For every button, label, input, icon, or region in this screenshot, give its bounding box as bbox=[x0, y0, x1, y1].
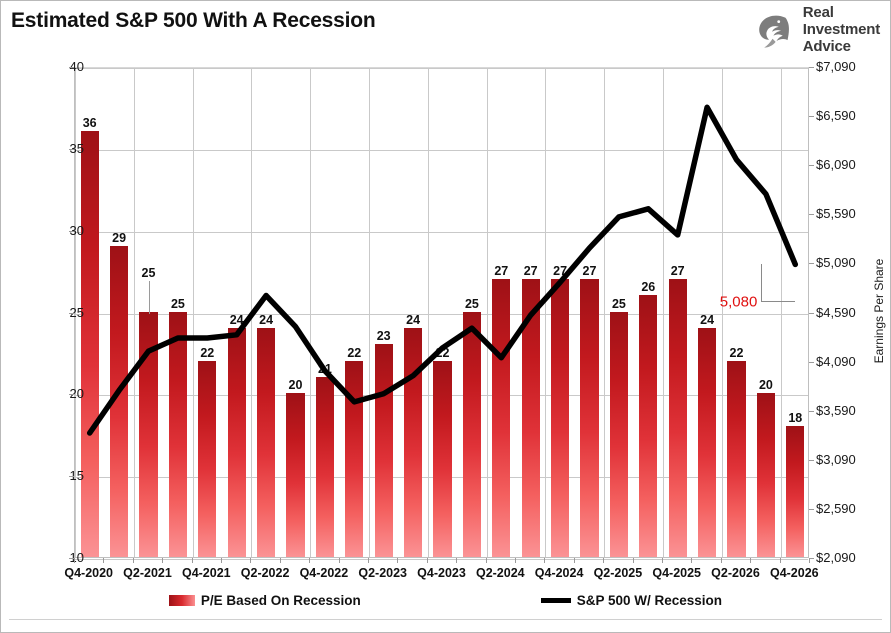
x-tick-label: Q2-2023 bbox=[358, 566, 407, 580]
x-tick-mark bbox=[544, 558, 545, 563]
y-tick-mark-right bbox=[809, 509, 814, 510]
y-tick-label-right: $5,090 bbox=[816, 255, 886, 270]
annotation-5080: 5,080 bbox=[720, 294, 758, 311]
x-tick-mark bbox=[662, 558, 663, 563]
x-tick-mark bbox=[603, 558, 604, 563]
y-tick-mark-right bbox=[809, 362, 814, 363]
y-tick-mark-left bbox=[69, 313, 74, 314]
eagle-head-icon bbox=[750, 8, 796, 52]
x-tick-label: Q2-2026 bbox=[711, 566, 760, 580]
y-tick-label-right: $4,590 bbox=[816, 305, 886, 320]
x-tick-mark bbox=[280, 558, 281, 563]
y-tick-mark-right bbox=[809, 116, 814, 117]
y-tick-label-right: $5,590 bbox=[816, 206, 886, 221]
page-title: Estimated S&P 500 With A Recession bbox=[11, 9, 376, 33]
y-tick-mark-left bbox=[69, 149, 74, 150]
y-tick-label-right: $6,590 bbox=[816, 108, 886, 123]
y-tick-label-right: $7,090 bbox=[816, 59, 886, 74]
x-tick-mark bbox=[809, 558, 810, 563]
brand-name: Real Investment Advice bbox=[803, 5, 880, 55]
y-tick-mark-right bbox=[809, 214, 814, 215]
x-tick-mark bbox=[162, 558, 163, 563]
x-tick-mark bbox=[750, 558, 751, 563]
x-tick-label: Q2-2021 bbox=[123, 566, 172, 580]
brand-logo: Real Investment Advice bbox=[750, 5, 880, 55]
y-tick-label-left: 20 bbox=[24, 386, 84, 401]
x-tick-label: Q4-2025 bbox=[652, 566, 701, 580]
y-tick-label-left: 35 bbox=[24, 141, 84, 156]
x-tick-label: Q4-2022 bbox=[300, 566, 349, 580]
x-tick-mark bbox=[456, 558, 457, 563]
y-tick-label-right: $2,590 bbox=[816, 501, 886, 516]
x-tick-label: Q2-2022 bbox=[241, 566, 290, 580]
brand-line-2: Investment bbox=[803, 22, 880, 39]
legend-label-bar: P/E Based On Recession bbox=[201, 593, 361, 608]
y-tick-label-right: $4,090 bbox=[816, 354, 886, 369]
y-tick-label-left: 10 bbox=[24, 550, 84, 565]
brand-line-3: Advice bbox=[803, 39, 880, 56]
plot-area: 3629252522242420212223242225272727272526… bbox=[74, 67, 809, 558]
legend-label-line: S&P 500 W/ Recession bbox=[577, 593, 722, 608]
x-tick-mark bbox=[339, 558, 340, 563]
y-tick-mark-right bbox=[809, 460, 814, 461]
x-tick-mark bbox=[192, 558, 193, 563]
brand-line-1: Real bbox=[803, 5, 880, 22]
x-tick-mark bbox=[691, 558, 692, 563]
y-tick-label-right: $3,590 bbox=[816, 403, 886, 418]
x-tick-mark bbox=[309, 558, 310, 563]
x-tick-mark bbox=[368, 558, 369, 563]
legend-divider bbox=[9, 619, 882, 620]
x-tick-mark bbox=[574, 558, 575, 563]
y-tick-label-left: 40 bbox=[24, 59, 84, 74]
x-tick-mark bbox=[721, 558, 722, 563]
y-tick-mark-left bbox=[69, 476, 74, 477]
x-tick-mark bbox=[74, 558, 75, 563]
chart-container: Estimated S&P 500 With A Recession Real … bbox=[0, 0, 891, 633]
y-tick-mark-left bbox=[69, 231, 74, 232]
y-tick-mark-right bbox=[809, 313, 814, 314]
y-tick-label-right: $6,090 bbox=[816, 157, 886, 172]
x-tick-mark bbox=[633, 558, 634, 563]
y-tick-mark-left bbox=[69, 67, 74, 68]
x-tick-mark bbox=[221, 558, 222, 563]
x-tick-mark bbox=[780, 558, 781, 563]
x-tick-label: Q4-2020 bbox=[64, 566, 113, 580]
legend-item-bar[interactable]: P/E Based On Recession bbox=[169, 593, 361, 608]
line-series bbox=[75, 68, 810, 559]
y-tick-label-left: 15 bbox=[24, 468, 84, 483]
y-tick-label-left: 25 bbox=[24, 305, 84, 320]
x-tick-label: Q4-2024 bbox=[535, 566, 584, 580]
y-tick-mark-right bbox=[809, 67, 814, 68]
x-tick-label: Q2-2025 bbox=[594, 566, 643, 580]
x-tick-mark bbox=[515, 558, 516, 563]
y-tick-mark-right bbox=[809, 165, 814, 166]
x-tick-label: Q4-2021 bbox=[182, 566, 231, 580]
x-tick-mark bbox=[427, 558, 428, 563]
annotation-leader bbox=[761, 264, 795, 302]
legend-swatch-line-icon bbox=[541, 598, 571, 603]
x-tick-mark bbox=[397, 558, 398, 563]
sp500-line bbox=[90, 107, 796, 433]
x-tick-mark bbox=[250, 558, 251, 563]
y-tick-label-right: $2,090 bbox=[816, 550, 886, 565]
y-tick-mark-right bbox=[809, 263, 814, 264]
y-tick-label-right: $3,090 bbox=[816, 452, 886, 467]
legend-item-line[interactable]: S&P 500 W/ Recession bbox=[541, 593, 722, 608]
chart-legend: P/E Based On Recession S&P 500 W/ Recess… bbox=[1, 593, 890, 608]
x-tick-mark bbox=[103, 558, 104, 563]
gridline-h bbox=[75, 559, 808, 560]
y-tick-label-left: 30 bbox=[24, 223, 84, 238]
x-tick-label: Q4-2023 bbox=[417, 566, 466, 580]
legend-swatch-bar-icon bbox=[169, 595, 195, 606]
x-tick-mark bbox=[133, 558, 134, 563]
x-tick-mark bbox=[486, 558, 487, 563]
x-tick-label: Q2-2024 bbox=[476, 566, 525, 580]
y-tick-mark-right bbox=[809, 411, 814, 412]
y-tick-mark-left bbox=[69, 394, 74, 395]
x-tick-label: Q4-2026 bbox=[770, 566, 819, 580]
